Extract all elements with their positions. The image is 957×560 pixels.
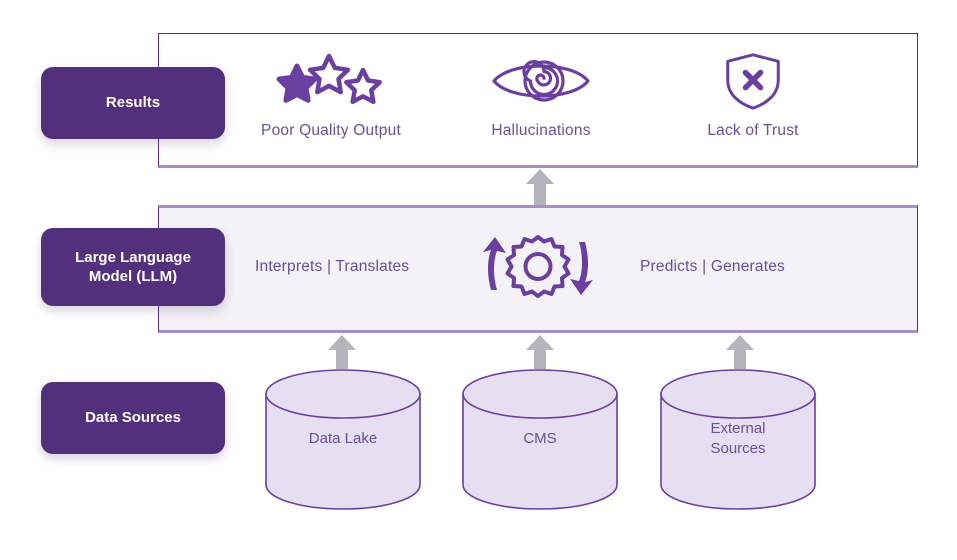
hypnotic-eye-icon bbox=[486, 52, 596, 110]
llm-right-text: Predicts | Generates bbox=[640, 258, 785, 276]
diagram-canvas: Results Large Language Model (LLM) Data … bbox=[0, 0, 957, 560]
database-cylinder-external-sources: External Sources bbox=[658, 367, 818, 512]
result-caption: Lack of Trust bbox=[707, 122, 798, 140]
result-item-poor-quality-output: Poor Quality Output bbox=[231, 52, 431, 140]
stage-label-data-sources-text: Data Sources bbox=[85, 408, 181, 428]
stage-label-llm-text: Large Language Model (LLM) bbox=[75, 248, 191, 287]
result-caption: Hallucinations bbox=[491, 122, 590, 140]
stage-label-llm-line1: Large Language bbox=[75, 249, 191, 266]
result-item-hallucinations: Hallucinations bbox=[441, 52, 641, 140]
stage-label-results-text: Results bbox=[106, 93, 160, 113]
stage-label-llm: Large Language Model (LLM) bbox=[41, 228, 225, 306]
stage-label-data-sources: Data Sources bbox=[41, 382, 225, 454]
llm-left-text: Interprets | Translates bbox=[255, 258, 409, 276]
database-cylinder-cms: CMS bbox=[460, 367, 620, 512]
stage-label-llm-line2: Model (LLM) bbox=[89, 268, 177, 285]
gear-with-cycle-arrows-icon bbox=[478, 234, 598, 303]
database-cylinder-data-lake: Data Lake bbox=[263, 367, 423, 512]
stage-label-results: Results bbox=[41, 67, 225, 139]
flow-arrow-llm-to-results bbox=[525, 168, 555, 211]
three-stars-icon bbox=[271, 52, 391, 110]
shield-x-icon bbox=[718, 52, 788, 110]
result-item-lack-of-trust: Lack of Trust bbox=[653, 52, 853, 140]
result-caption: Poor Quality Output bbox=[261, 122, 401, 140]
